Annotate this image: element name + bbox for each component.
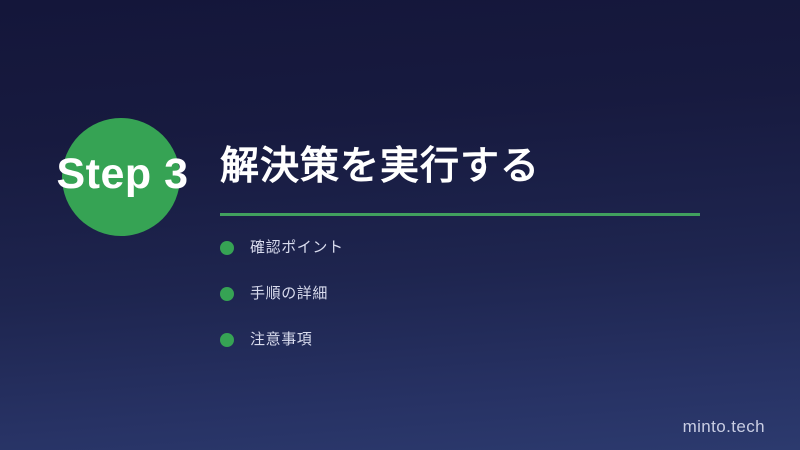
bullet-dot-icon: [220, 241, 234, 255]
bullet-dot-icon: [220, 287, 234, 301]
presentation-slide: Step 3 解決策を実行する 確認ポイント 手順の詳細 注意事項 minto.…: [0, 0, 800, 450]
list-item: 注意事項: [220, 332, 680, 378]
title-divider: [220, 213, 700, 216]
list-item: 手順の詳細: [220, 286, 680, 332]
footer-brand: minto.tech: [683, 417, 765, 437]
bullet-list: 確認ポイント 手順の詳細 注意事項: [220, 240, 680, 378]
list-item-label: 手順の詳細: [250, 286, 328, 302]
step-label: Step 3: [20, 150, 225, 198]
list-item-label: 確認ポイント: [250, 240, 344, 256]
list-item: 確認ポイント: [220, 240, 680, 286]
list-item-label: 注意事項: [250, 332, 312, 348]
bullet-dot-icon: [220, 333, 234, 347]
page-title: 解決策を実行する: [220, 141, 540, 193]
